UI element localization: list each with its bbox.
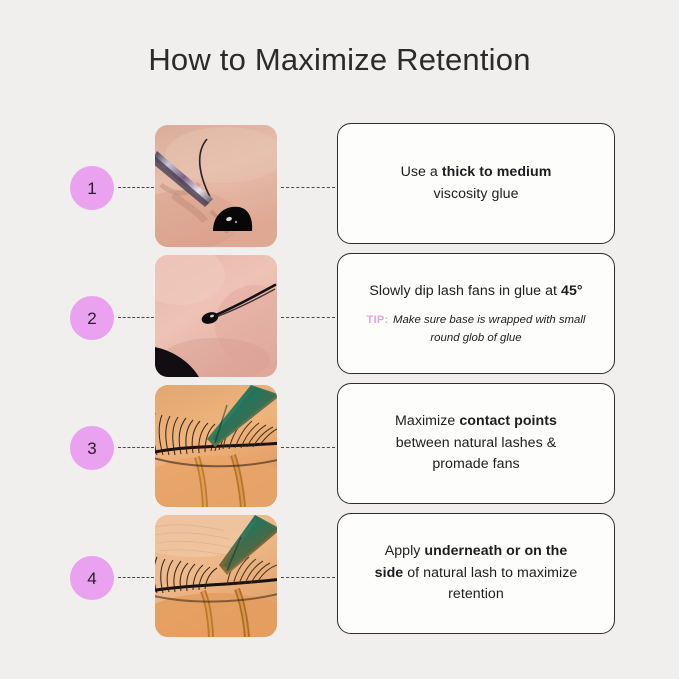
- tip-text: Make sure base is wrapped with small rou…: [393, 314, 585, 344]
- card-text-bold: side: [375, 565, 404, 581]
- card-text-bold: underneath or on the: [424, 543, 567, 559]
- step-text-card: Use a thick to medium viscosity glue: [337, 123, 615, 244]
- card-line: Maximize contact points: [395, 411, 557, 433]
- tip-label: TIP:: [367, 314, 389, 326]
- step-row: 1: [0, 123, 679, 253]
- card-text-pre: viscosity glue: [433, 186, 518, 202]
- connector-line-left: [118, 577, 154, 578]
- card-text-pre: between natural lashes &: [396, 435, 557, 451]
- steps-list: 1: [0, 123, 679, 643]
- step-row: 3: [0, 383, 679, 513]
- card-text-pre: Slowly dip lash fans in glue at: [369, 283, 561, 299]
- step-image-contact-points-lashes-photo: [155, 385, 277, 507]
- step-number-badge: 1: [70, 166, 114, 210]
- connector-line-right: [281, 317, 335, 318]
- step-row: 2: [0, 253, 679, 383]
- connector-line-left: [118, 447, 154, 448]
- card-text-bold: contact points: [459, 413, 557, 429]
- step-row: 4: [0, 513, 679, 643]
- tip-block: TIP: Make sure base is wrapped with smal…: [354, 310, 598, 346]
- step-image-lash-fan-glue-glob-photo: [155, 255, 277, 377]
- step-number-badge: 4: [70, 556, 114, 600]
- card-line: side of natural lash to maximize: [375, 563, 578, 585]
- connector-line-left: [118, 317, 154, 318]
- card-line: Use a thick to medium: [401, 162, 552, 184]
- card-text-pre: Maximize: [395, 413, 459, 429]
- connector-line-right: [281, 577, 335, 578]
- step-text-card: Slowly dip lash fans in glue at 45° TIP:…: [337, 253, 615, 374]
- step-number-label: 3: [70, 426, 114, 470]
- step-text-card: Apply underneath or on the side of natur…: [337, 513, 615, 634]
- step-image-underneath-side-application-photo: [155, 515, 277, 637]
- card-line: Slowly dip lash fans in glue at 45°: [369, 281, 582, 303]
- card-text-bold: thick to medium: [442, 164, 552, 180]
- card-line: retention: [448, 584, 504, 606]
- step-number-label: 1: [70, 166, 114, 210]
- card-text-bold: 45°: [561, 283, 583, 299]
- card-line: promade fans: [432, 454, 519, 476]
- step-number-label: 4: [70, 556, 114, 600]
- step-number-badge: 2: [70, 296, 114, 340]
- card-text-pre: Use a: [401, 164, 442, 180]
- card-text-pre: Apply: [385, 543, 425, 559]
- step-text-card: Maximize contact points between natural …: [337, 383, 615, 504]
- card-line: viscosity glue: [433, 184, 518, 206]
- card-line: Apply underneath or on the: [385, 541, 568, 563]
- card-line: between natural lashes &: [396, 433, 557, 455]
- step-number-label: 2: [70, 296, 114, 340]
- connector-line-right: [281, 447, 335, 448]
- connector-line-left: [118, 187, 154, 188]
- step-number-badge: 3: [70, 426, 114, 470]
- step-image-tweezers-lash-glue-drop-photo: [155, 125, 277, 247]
- connector-line-right: [281, 187, 335, 188]
- card-text-post: of natural lash to maximize: [403, 565, 577, 581]
- card-text-pre: retention: [448, 586, 504, 602]
- page-title: How to Maximize Retention: [0, 42, 679, 78]
- card-text-pre: promade fans: [432, 456, 519, 472]
